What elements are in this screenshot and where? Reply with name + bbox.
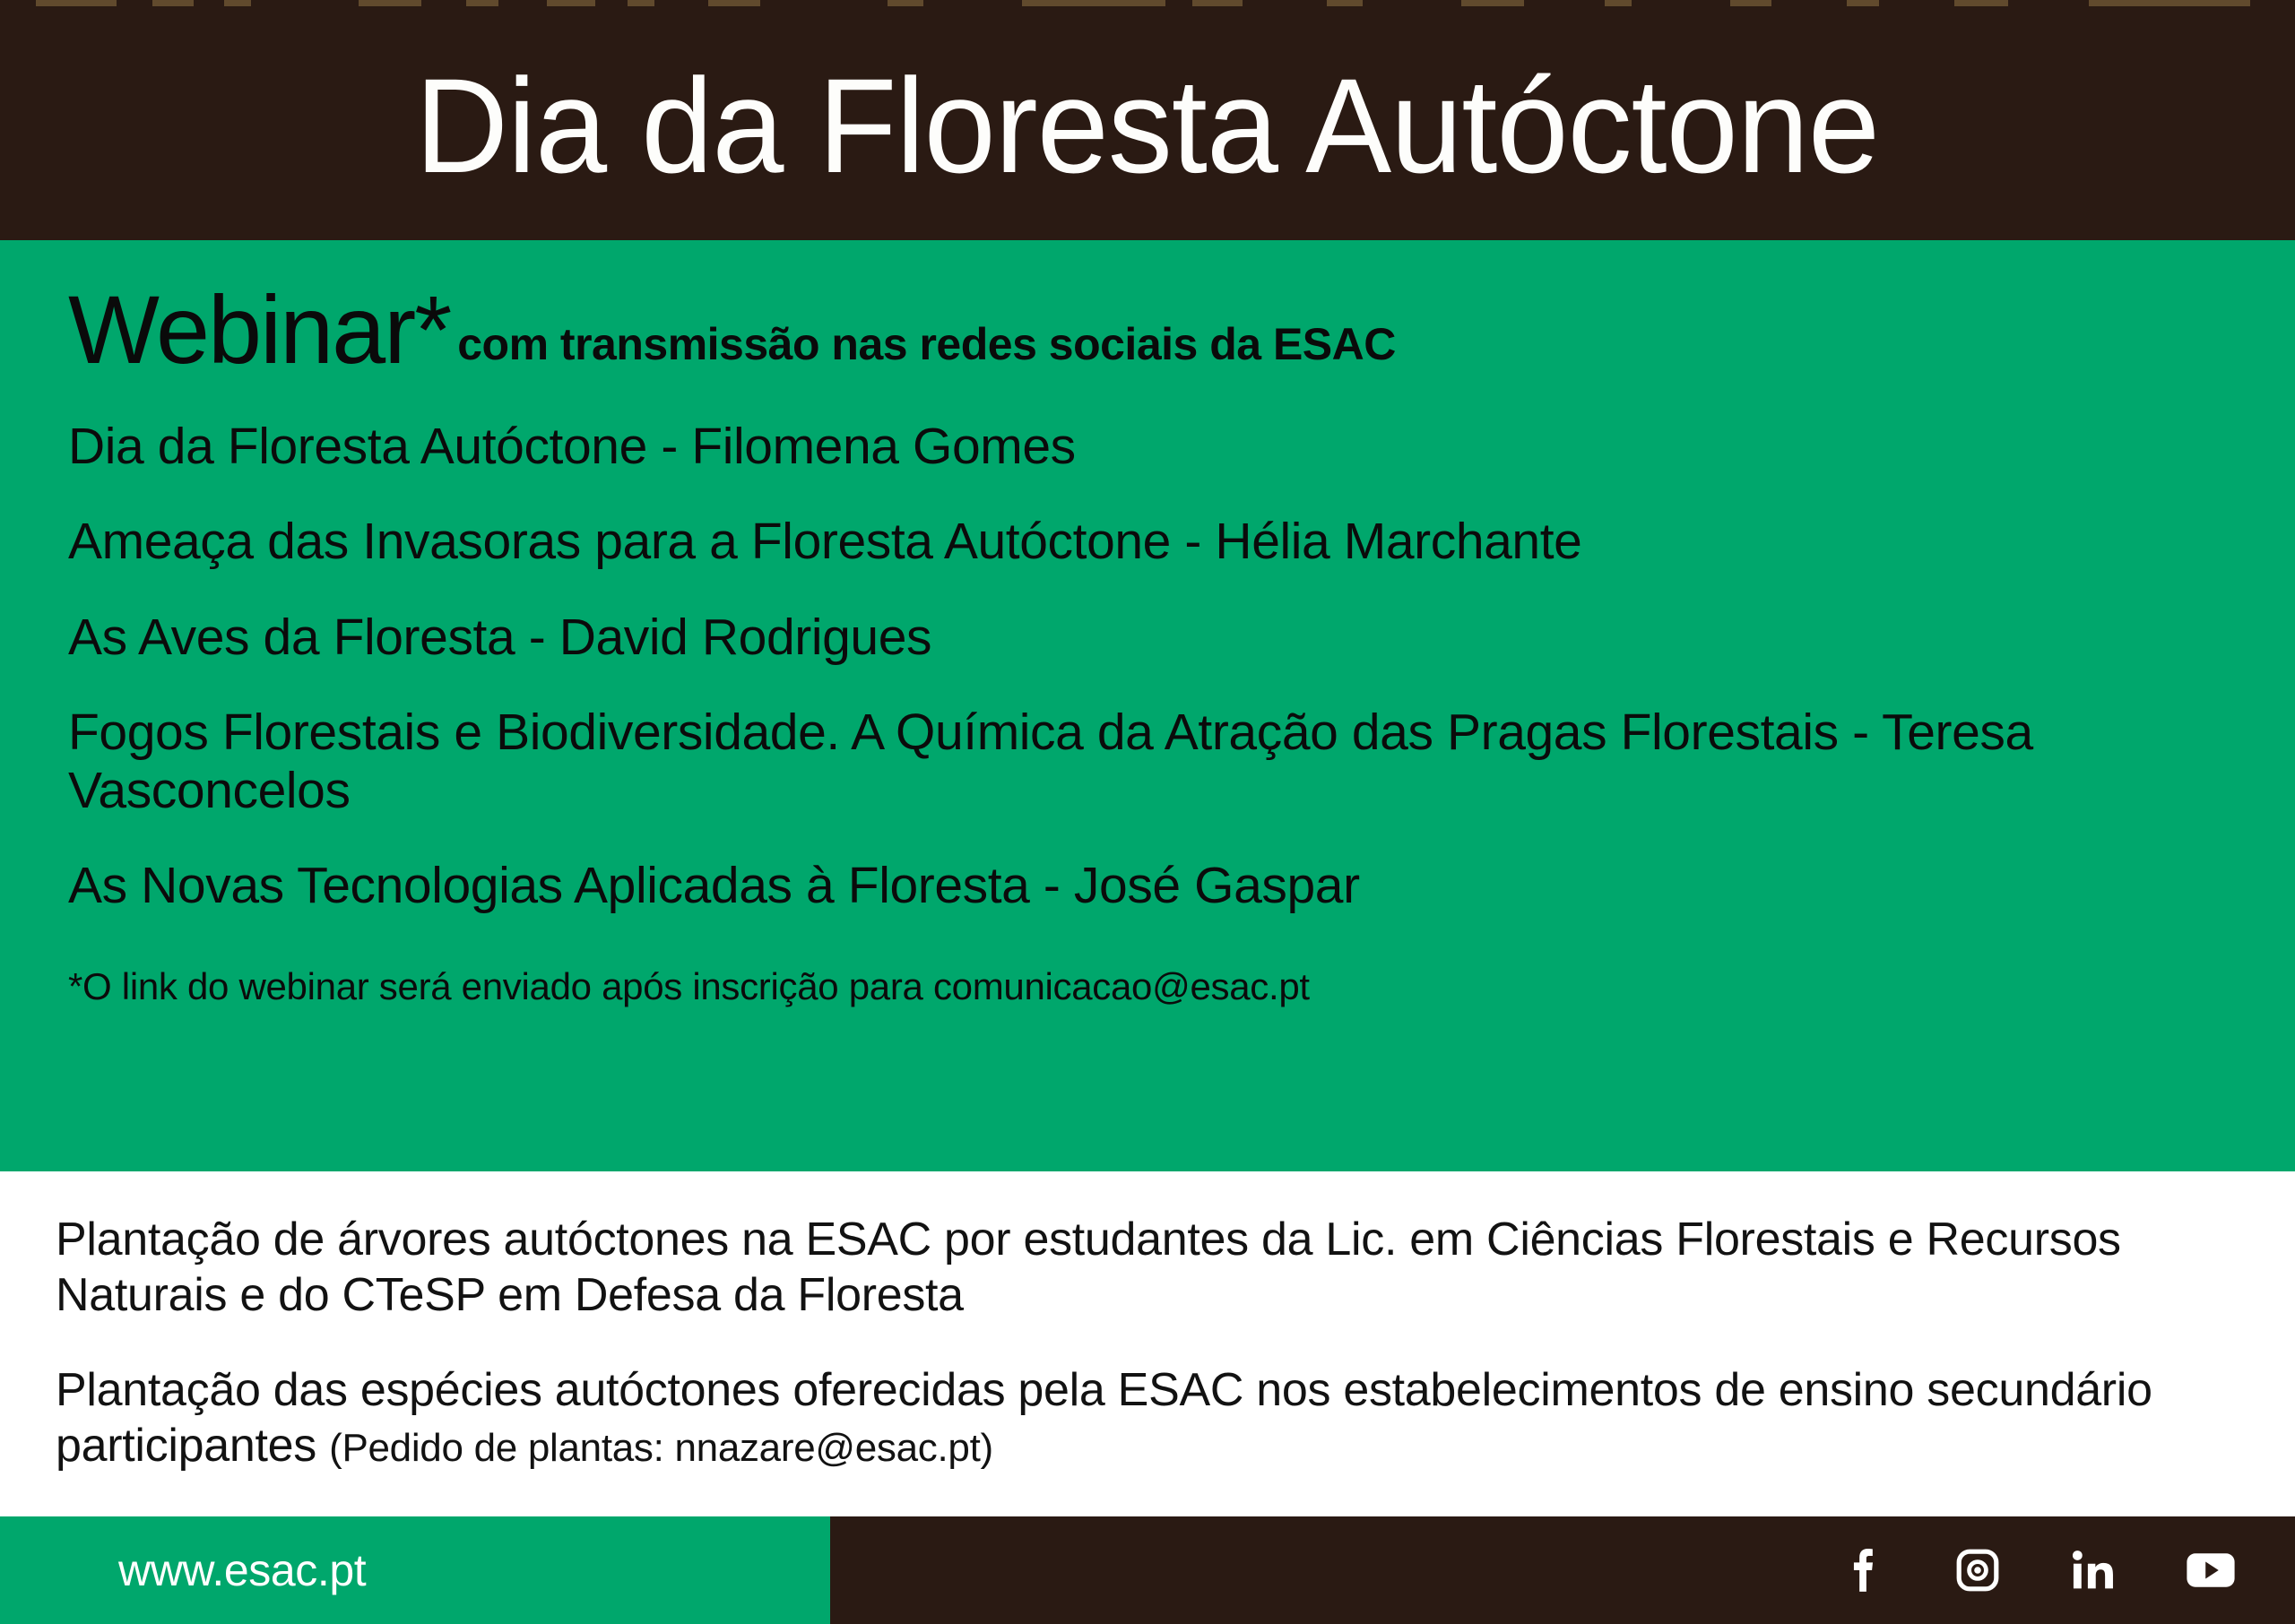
cropped-toolbar-strip <box>0 0 2295 11</box>
poster-root: Dia da Floresta Autóctone Webinar* com t… <box>0 0 2295 1624</box>
webinar-heading: Webinar* com transmissão nas redes socia… <box>68 240 2295 378</box>
talk-item: As Novas Tecnologias Aplicadas à Florest… <box>68 857 2238 914</box>
webinar-heading-subtitle: com transmissão nas redes sociais da ESA… <box>457 322 1396 367</box>
planting-paragraph-1: Plantação de árvores autóctones na ESAC … <box>56 1213 2241 1324</box>
webinar-heading-main: Webinar* <box>68 281 450 378</box>
youtube-icon[interactable] <box>2186 1545 2236 1595</box>
planting-paragraph-2: Plantação das espécies autóctones oferec… <box>56 1363 2241 1474</box>
planting-paragraph-2-note: (Pedido de plantas: nnazare@esac.pt) <box>329 1426 993 1470</box>
planting-section: Plantação de árvores autóctones na ESAC … <box>0 1171 2295 1516</box>
talk-item: As Aves da Floresta - David Rodrigues <box>68 609 2238 666</box>
footer: www.esac.pt <box>0 1516 2295 1624</box>
webinar-footnote: *O link do webinar será enviado após ins… <box>68 964 2295 1009</box>
linkedin-icon[interactable] <box>2069 1545 2119 1595</box>
talks-list: Dia da Floresta Autóctone - Filomena Gom… <box>68 418 2295 914</box>
website-link[interactable]: www.esac.pt <box>0 1516 830 1624</box>
title-band: Dia da Floresta Autóctone <box>0 11 2295 240</box>
talk-item: Dia da Floresta Autóctone - Filomena Gom… <box>68 418 2238 475</box>
talk-item: Ameaça das Invasoras para a Floresta Aut… <box>68 513 2238 570</box>
facebook-icon[interactable] <box>1836 1545 1886 1595</box>
instagram-icon[interactable] <box>1953 1545 2003 1595</box>
page-title: Dia da Floresta Autóctone <box>416 57 1880 194</box>
talk-item: Fogos Florestais e Biodiversidade. A Quí… <box>68 704 2238 819</box>
social-links <box>830 1516 2295 1624</box>
webinar-section: Webinar* com transmissão nas redes socia… <box>0 240 2295 1171</box>
